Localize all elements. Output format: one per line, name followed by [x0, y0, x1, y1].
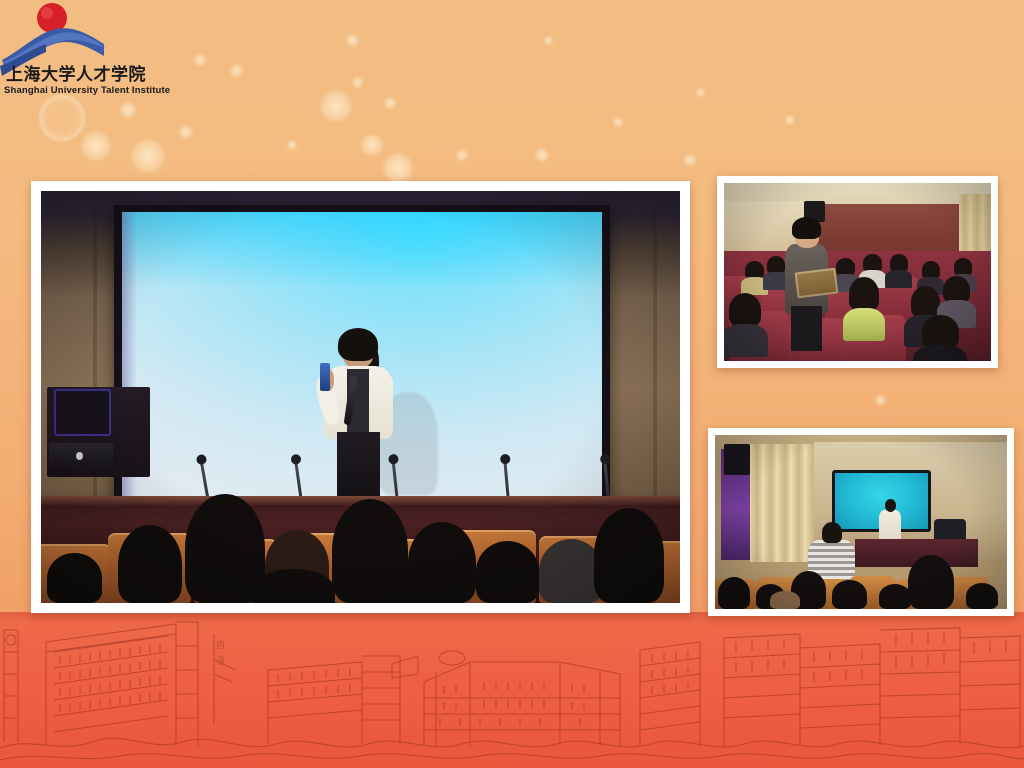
lecture-hall-wide-image [715, 435, 1007, 609]
bokeh-circle [785, 115, 795, 125]
svg-text:自: 自 [216, 639, 225, 651]
bokeh-circle [361, 134, 383, 156]
screen-glow [122, 212, 601, 289]
hall-scene [715, 435, 1007, 609]
bokeh-circle [81, 131, 111, 161]
institute-logo: 上海大学人才学院 Shanghai University Talent Inst… [0, 0, 200, 100]
bokeh-circle [131, 139, 165, 173]
audience-question-photo[interactable] [717, 176, 998, 368]
poster-canvas: 上海大学人才学院 Shanghai University Talent Inst… [0, 0, 1024, 768]
bokeh-circle [384, 97, 396, 109]
lecture-hall-speaker-photo[interactable] [31, 181, 690, 613]
logo-chinese-text: 上海大学人才学院 [6, 64, 146, 85]
presenter-head [885, 499, 896, 512]
bokeh-circle [39, 95, 85, 141]
bokeh-circle [544, 36, 553, 45]
bokeh-circle [179, 125, 193, 139]
auditorium-scene [724, 183, 991, 361]
lecture-hall-wide-photo[interactable] [708, 428, 1014, 616]
student-trousers [791, 306, 822, 351]
bokeh-circle [320, 90, 352, 122]
bokeh-circle [456, 149, 468, 161]
bokeh-circle [287, 140, 297, 150]
svg-text:强: 强 [216, 656, 225, 667]
bokeh-circle [346, 34, 359, 47]
student-hair [792, 217, 821, 239]
bokeh-circle [352, 77, 363, 88]
bokeh-circle [120, 102, 136, 118]
logo-english-text: Shanghai University Talent Institute [4, 85, 170, 96]
speaker-phone [320, 363, 330, 391]
open-book [794, 267, 838, 298]
lecture-hall-speaker-image [41, 191, 680, 603]
bokeh-circle [684, 154, 696, 166]
standing-student [785, 217, 828, 349]
bokeh-circle [875, 395, 886, 406]
bokeh-circle [230, 64, 243, 77]
bokeh-circle [535, 148, 549, 162]
viewer-head [822, 522, 843, 543]
presenter-figure [879, 499, 902, 544]
ceiling-speaker [724, 444, 750, 475]
speaker-hair [338, 328, 378, 361]
bokeh-circle [383, 153, 413, 183]
front-row [715, 557, 1007, 609]
podium-monitor [54, 389, 111, 436]
campus-building-line-art: 自 强 [0, 612, 1024, 768]
campus-building-band: 自 强 [0, 612, 1024, 768]
audience-question-image [724, 183, 991, 361]
audience-row [41, 463, 680, 603]
hall-curtain [750, 444, 814, 562]
bokeh-circle [613, 117, 623, 127]
bokeh-circle [696, 88, 705, 97]
